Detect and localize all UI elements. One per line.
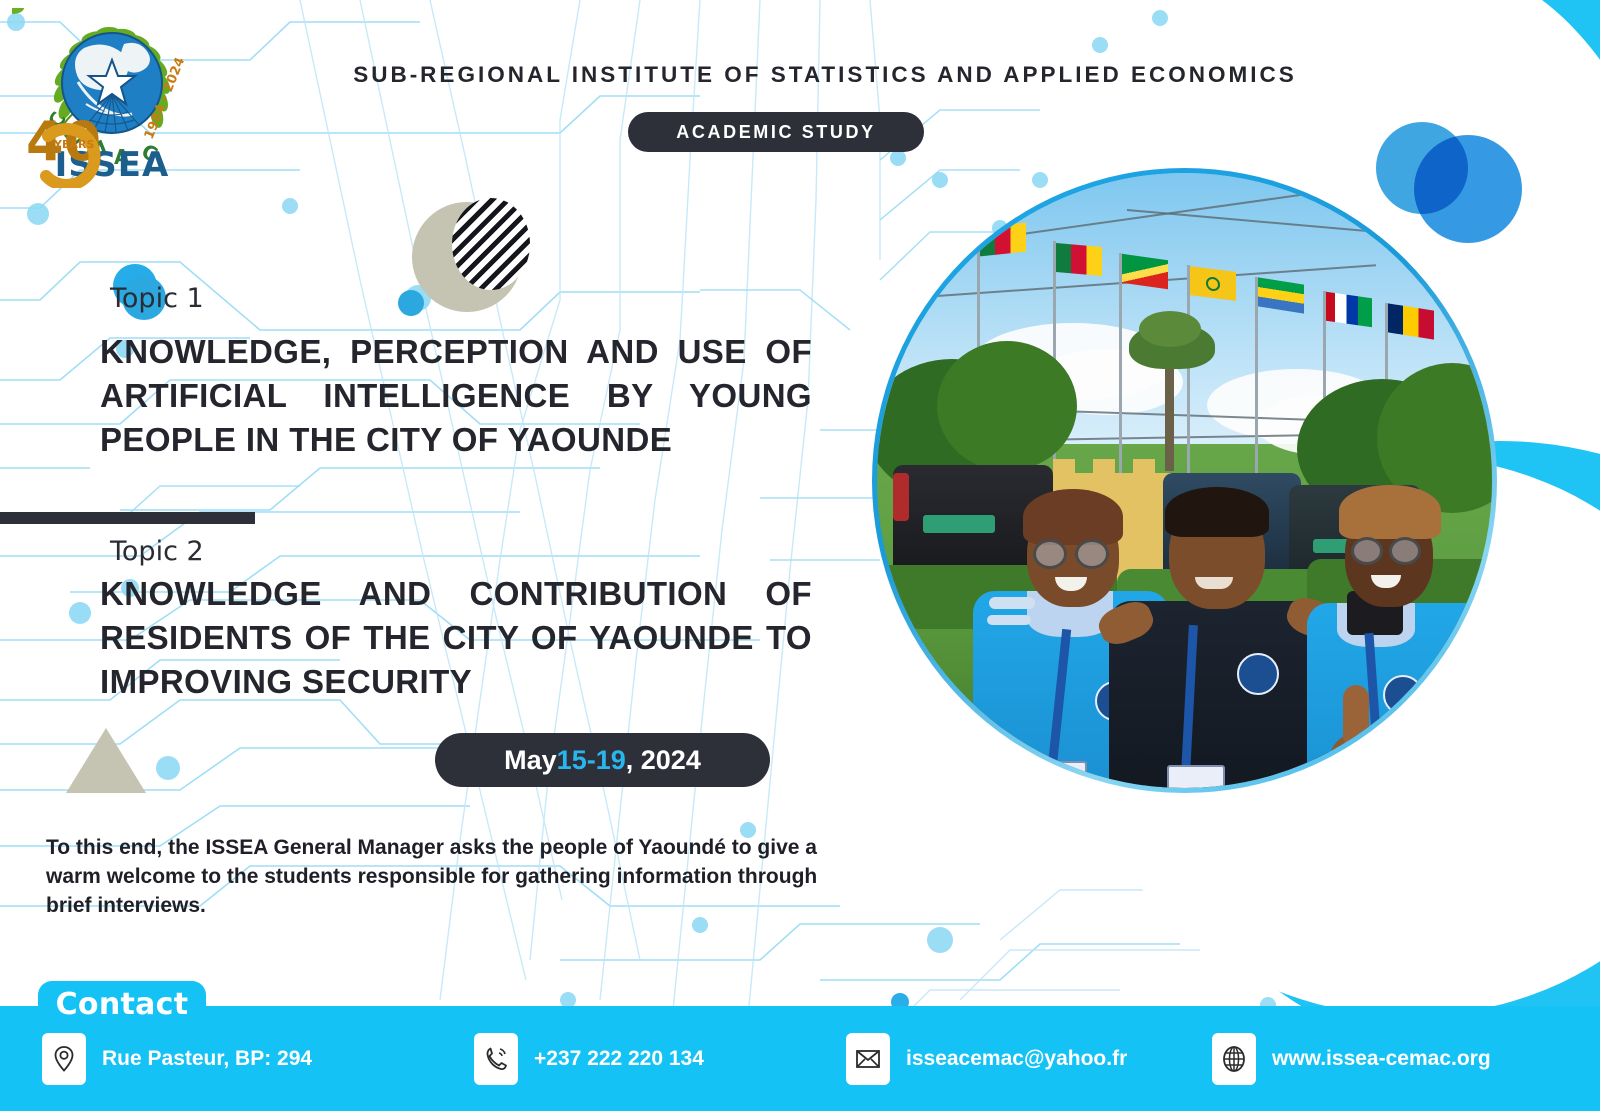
decorative-beige-triangle bbox=[66, 728, 146, 793]
date-separator: - bbox=[587, 745, 596, 776]
contact-website[interactable]: www.issea-cemac.org bbox=[1212, 1033, 1491, 1085]
section-divider-bar bbox=[0, 512, 255, 524]
globe-icon bbox=[1212, 1033, 1256, 1085]
location-pin-icon bbox=[42, 1033, 86, 1085]
academic-study-badge: ACADEMIC STUDY bbox=[628, 112, 924, 152]
date-day-start: 15 bbox=[557, 745, 587, 776]
contact-address-text: Rue Pasteur, BP: 294 bbox=[102, 1047, 312, 1071]
contact-phone-text: +237 222 220 134 bbox=[534, 1047, 704, 1071]
date-year: , 2024 bbox=[626, 745, 701, 776]
topic-1-label: Topic 1 bbox=[110, 283, 204, 314]
svg-text:YEARS: YEARS bbox=[53, 138, 94, 151]
institute-title: SUB-REGIONAL INSTITUTE OF STATISTICS AND… bbox=[280, 62, 1370, 88]
contact-phone[interactable]: +237 222 220 134 bbox=[474, 1033, 704, 1085]
envelope-icon bbox=[846, 1033, 890, 1085]
contact-label: Contact bbox=[38, 981, 206, 1027]
photo-content bbox=[877, 173, 1492, 788]
decorative-dot-1 bbox=[398, 290, 424, 316]
contact-email-text: isseacemac@yahoo.fr bbox=[906, 1047, 1127, 1071]
phone-icon bbox=[474, 1033, 518, 1085]
date-badge: May 15 - 19 , 2024 bbox=[435, 733, 770, 787]
issea-cemac-logo: C E M A C 1984 - 2024 ISSEA 40 YEARS bbox=[12, 8, 212, 188]
body-paragraph: To this end, the ISSEA General Manager a… bbox=[46, 833, 821, 920]
date-month: May bbox=[504, 745, 557, 776]
contact-email[interactable]: isseacemac@yahoo.fr bbox=[846, 1033, 1127, 1085]
topic-2-title: KNOWLEDGE AND CONTRIBUTION OF RESIDENTS … bbox=[100, 572, 812, 704]
contact-address[interactable]: Rue Pasteur, BP: 294 bbox=[42, 1033, 312, 1085]
poster-canvas: C E M A C 1984 - 2024 ISSEA 40 YEARS SUB… bbox=[0, 0, 1600, 1111]
topic-1-title: KNOWLEDGE, PERCEPTION AND USE OF ARTIFIC… bbox=[100, 330, 812, 462]
study-photo bbox=[872, 168, 1497, 793]
contact-website-text: www.issea-cemac.org bbox=[1272, 1047, 1491, 1071]
topic-2-label: Topic 2 bbox=[110, 536, 204, 567]
date-day-end: 19 bbox=[596, 745, 626, 776]
decorative-striped-circle bbox=[452, 198, 530, 290]
